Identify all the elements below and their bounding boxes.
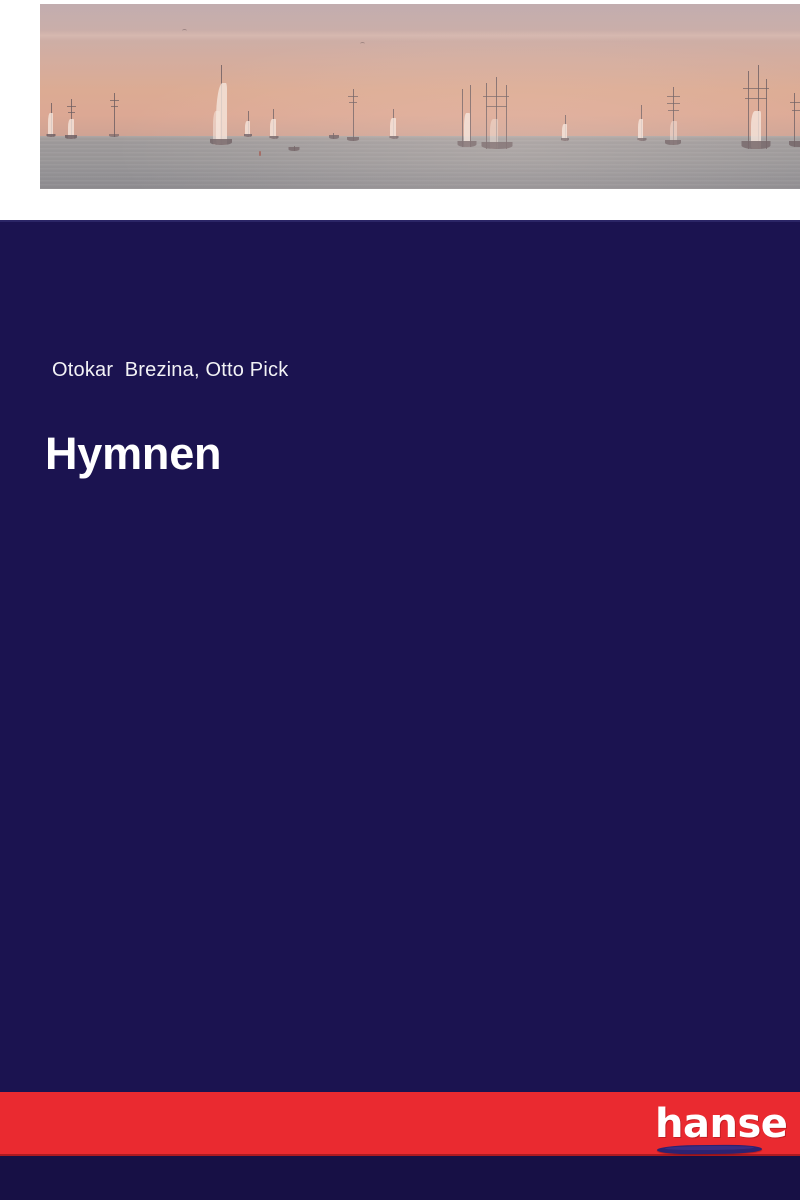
tall-ship (64, 93, 78, 139)
hanse-swoosh-icon (657, 1144, 762, 1154)
cloud-streak (40, 30, 800, 41)
sailboat (46, 97, 56, 137)
buoy (259, 151, 261, 156)
motorboat (328, 131, 339, 139)
hanse-logo-text: hanse (655, 1104, 787, 1144)
tall-ship (346, 85, 360, 141)
tall-ship (208, 63, 234, 145)
tall-ship (480, 73, 514, 149)
navy-top-edge (0, 220, 800, 222)
hanse-logo: hanse (655, 1104, 765, 1156)
tall-ship (456, 81, 478, 147)
bird-icon (360, 42, 365, 46)
sailboat (388, 105, 399, 139)
tall-ship (108, 89, 120, 137)
book-cover: Otokar Brezina, Otto Pick Hymnen hanse (0, 0, 800, 1200)
book-title: Hymnen (45, 428, 221, 480)
sailboat (636, 101, 647, 141)
sailboat (243, 107, 253, 137)
tall-ship (740, 63, 772, 149)
cover-footer (0, 1156, 800, 1200)
sailboat (560, 111, 570, 141)
cover-body (0, 220, 800, 1092)
bird-icon (182, 29, 187, 33)
sailboat (268, 105, 279, 139)
motorboat (288, 143, 300, 151)
cover-photo (40, 4, 800, 189)
author-line: Otokar Brezina, Otto Pick (52, 359, 288, 382)
tall-ship (788, 85, 800, 147)
water-shimmer (40, 136, 800, 189)
sea-surface (40, 136, 800, 189)
photo-scene (40, 4, 800, 189)
tall-ship (664, 83, 682, 145)
sunset-sky (40, 4, 800, 136)
